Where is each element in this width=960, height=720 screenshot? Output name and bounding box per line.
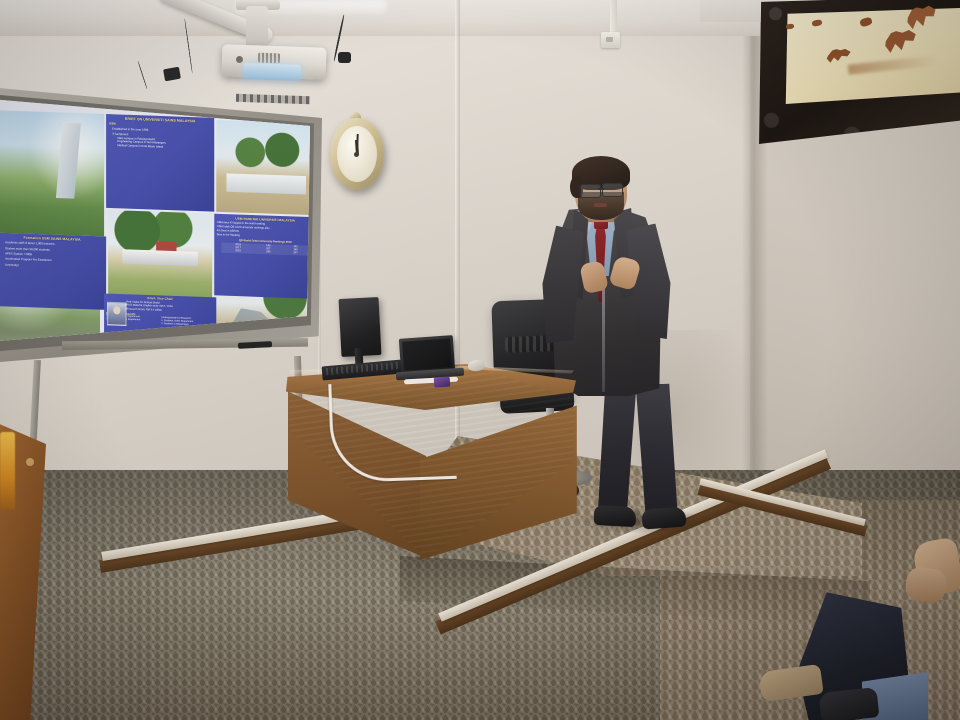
- door-knob[interactable]: [26, 458, 34, 466]
- projector-plug-right: [338, 52, 351, 63]
- presenter-shoe-left: [594, 505, 637, 527]
- campus-tower-photo: [0, 110, 104, 236]
- presenter-jacket-zipper: [602, 276, 605, 392]
- projector-vent: [258, 53, 280, 64]
- presenter-mouth: [594, 203, 607, 207]
- slide-panel-formation: Formation USM SAINS MALAYSIA Academic st…: [0, 233, 106, 310]
- slide-panel-brief: BRIEF ON UNIVERSITI SAINS MALAYSIA USM E…: [106, 114, 214, 212]
- campus-trees-photo: [216, 120, 310, 215]
- projector-mount-post: [246, 6, 268, 50]
- room-photo-scene: BRIEF ON UNIVERSITI SAINS MALAYSIA USM E…: [0, 0, 960, 720]
- artwork-frame-ornament: [757, 0, 960, 144]
- clock-center-pin: [354, 152, 359, 157]
- audience-shoe-dark: [819, 687, 880, 720]
- rank-year: 2016: [221, 249, 254, 254]
- rank-a: 289: [255, 250, 282, 254]
- projection-screen[interactable]: BRIEF ON UNIVERSITI SAINS MALAYSIA USM E…: [0, 96, 310, 346]
- profile-photo: [107, 302, 126, 326]
- rank-b: 207: [282, 251, 309, 255]
- projector-lens: [243, 63, 302, 81]
- presentation-slide: BRIEF ON UNIVERSITI SAINS MALAYSIA USM E…: [0, 96, 310, 346]
- slide-panel-ranking: USM RANKING UNIVERSITI MALAYSIA USM rise…: [214, 214, 310, 299]
- slide-ranking-table: 2018 189 142 2017 207 165 2016 289 207: [221, 242, 309, 255]
- presenter-eyeglass-bridge: [598, 188, 604, 190]
- laptop-screen: [402, 338, 452, 370]
- presenter-shoe-right: [641, 506, 686, 529]
- presenter-eyeglass-left: [580, 184, 601, 198]
- wall-conduit: [610, 0, 617, 36]
- door-amber-reflection: [0, 432, 15, 510]
- wall-outlet-slot: [606, 37, 613, 42]
- campus-building-photo: [108, 210, 212, 301]
- projector-focus-knob[interactable]: [236, 56, 243, 63]
- presenter-eyeglass-right: [602, 183, 623, 197]
